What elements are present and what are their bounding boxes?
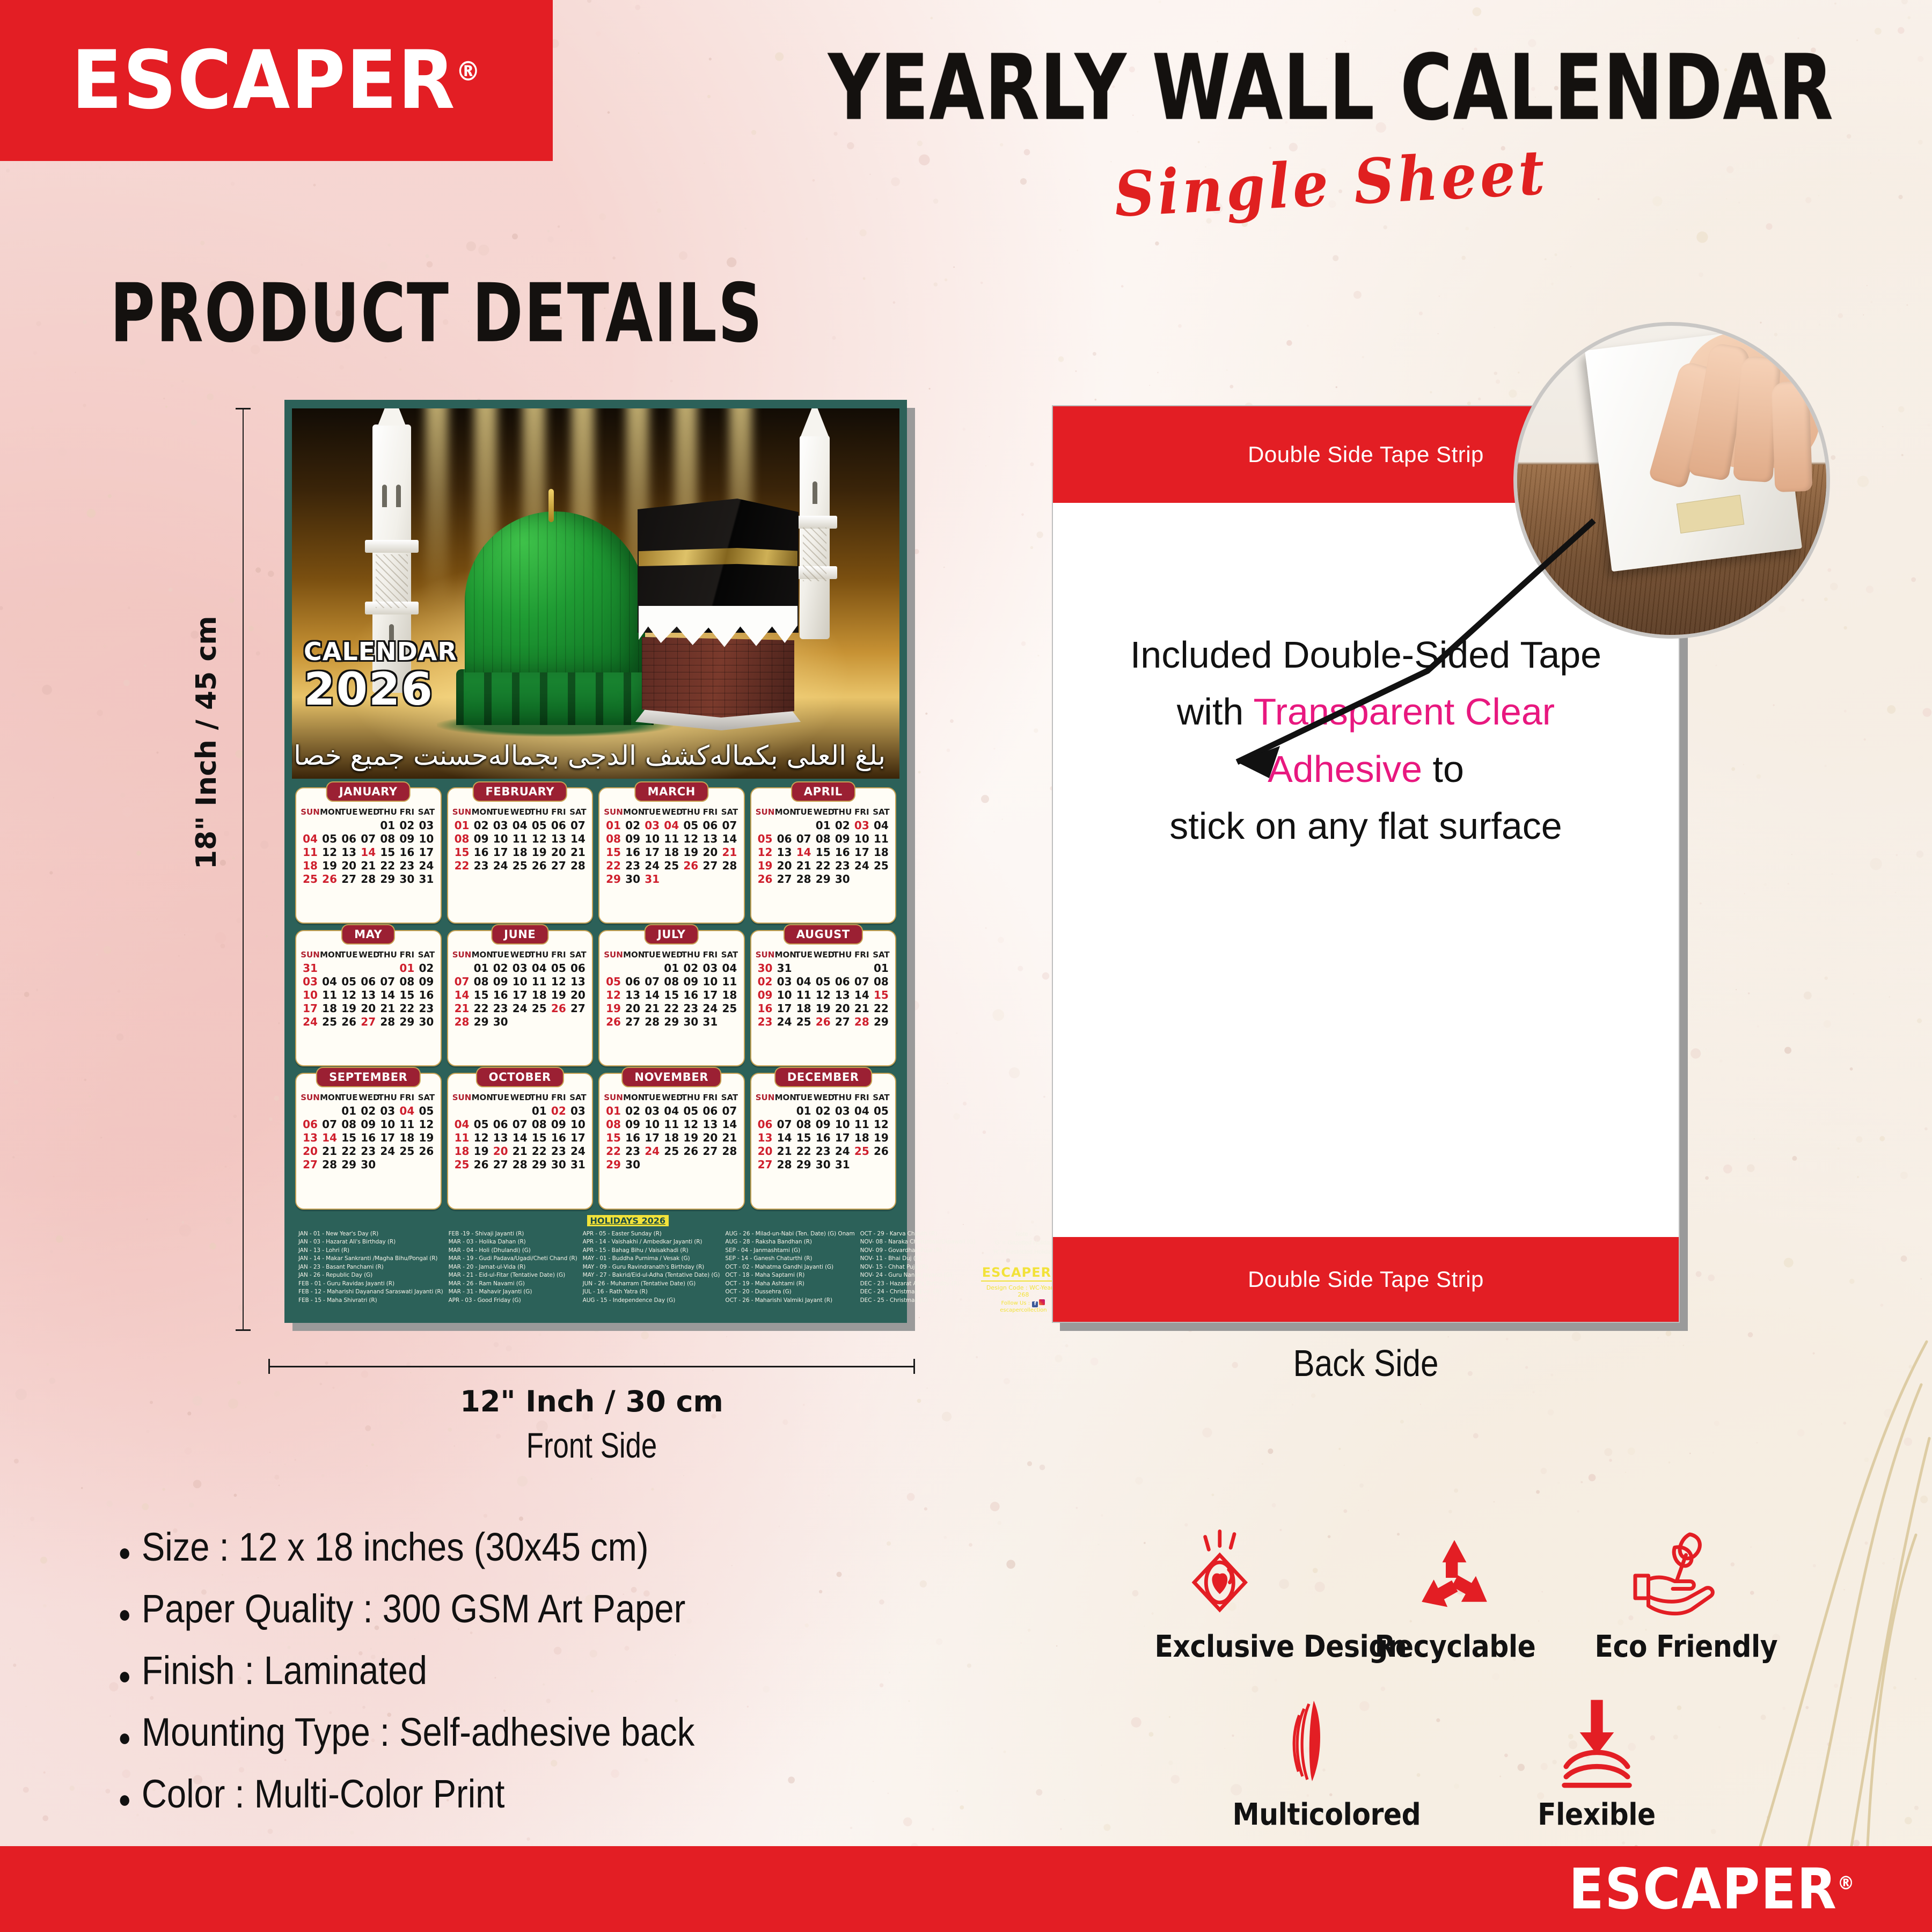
- calendar-day: 16: [416, 989, 436, 1002]
- calendar-day: 29: [530, 1158, 549, 1172]
- feature-label: Recyclable: [1375, 1629, 1534, 1664]
- holiday-entry: DEC - 24 - Christmas Eve. (R): [860, 1288, 976, 1297]
- calendar-day: 02: [397, 819, 416, 832]
- calendar-day-empty: [662, 873, 681, 886]
- calendar-day: 23: [833, 859, 852, 873]
- calendar-day: 26: [604, 1015, 623, 1029]
- month-card: JULYSUNMONTUEWEDTHUFRISAT010203040506070…: [598, 930, 745, 1066]
- month-table: SUNMONTUEWEDTHUFRISAT0102030405060708091…: [604, 1092, 740, 1172]
- calendar-day: 18: [662, 846, 681, 859]
- holiday-entry: MAR - 04 - Holi (Dhulandi) (G): [449, 1247, 577, 1255]
- calendar-day: 14: [358, 846, 378, 859]
- calendar-day: 07: [510, 1118, 530, 1131]
- weekday-header: SUN: [604, 807, 623, 819]
- calendar-day: 09: [756, 989, 775, 1002]
- front-side-caption: Front Side: [333, 1425, 851, 1466]
- calendar-day: 20: [491, 1145, 510, 1158]
- calendar-day: 05: [320, 832, 339, 846]
- month-name: FEBRUARY: [472, 781, 567, 802]
- calendar-day: 07: [378, 975, 397, 989]
- calendar-day: 24: [642, 859, 662, 873]
- calendar-day-empty: [642, 962, 662, 975]
- holiday-entry: SEP - 14 - Ganesh Chaturthi (R): [725, 1255, 854, 1263]
- registered-mark: ®: [456, 56, 481, 87]
- calendar-day: 24: [568, 1145, 588, 1158]
- weekday-header: MON: [472, 807, 491, 819]
- calendar-day: 31: [301, 962, 320, 975]
- weekday-header: SUN: [604, 1092, 623, 1104]
- calendar-day: 11: [794, 989, 814, 1002]
- calendar-day: 06: [491, 1118, 510, 1131]
- calendar-day-empty: [642, 1158, 662, 1172]
- calendar-day-empty: [339, 819, 358, 832]
- calendar-day: 13: [775, 846, 794, 859]
- holiday-entry: NOV- 08 - Naraka Chaturdasi/Dipawali (G): [860, 1238, 976, 1247]
- calendar-day: 06: [700, 1104, 720, 1118]
- month-table: SUNMONTUEWEDTHUFRISAT3101020304050607080…: [301, 949, 436, 1029]
- calendar-day: 09: [397, 832, 416, 846]
- weekday-header: SUN: [756, 949, 775, 962]
- weekday-header: WED: [814, 949, 833, 962]
- holiday-entry: MAR - 26 - Ram Navami (G): [449, 1280, 577, 1289]
- weekday-header: WED: [814, 807, 833, 819]
- calendar-day: 14: [452, 989, 472, 1002]
- calendar-day: 12: [604, 989, 623, 1002]
- calendar-day: 17: [378, 1131, 397, 1145]
- calendar-day: 19: [756, 859, 775, 873]
- weekday-header: WED: [662, 807, 681, 819]
- weekday-header: TUE: [642, 949, 662, 962]
- weekday-header: MON: [623, 1092, 642, 1104]
- calendar-day-empty: [852, 1158, 872, 1172]
- calendar-day: 28: [642, 1015, 662, 1029]
- calendar-day: 23: [756, 1015, 775, 1029]
- holiday-entry: JAN - 13 - Lohri (R): [298, 1247, 443, 1255]
- calendar-day: 29: [794, 1158, 814, 1172]
- calendar-day-empty: [510, 1104, 530, 1118]
- calendar-day: 08: [452, 832, 472, 846]
- weekday-header: SUN: [452, 807, 472, 819]
- weekday-header: FRI: [700, 807, 720, 819]
- calendar-day: 30: [681, 1015, 700, 1029]
- calendar-day: 03: [510, 962, 530, 975]
- calendar-day: 25: [320, 1015, 339, 1029]
- calendar-day: 18: [530, 989, 549, 1002]
- calendar-day: 09: [833, 832, 852, 846]
- holiday-column: AUG - 26 - Milad-un-Nabi (Ten. Date) (G)…: [725, 1230, 854, 1314]
- holidays-title: HOLIDAYS 2026: [587, 1215, 669, 1226]
- weekday-header: FRI: [852, 807, 872, 819]
- dimension-label-width: 12" Inch / 30 cm: [268, 1385, 915, 1418]
- calendar-day: 14: [510, 1131, 530, 1145]
- calendar-day: 06: [549, 819, 568, 832]
- month-card: JANUARYSUNMONTUEWEDTHUFRISAT010203040506…: [295, 787, 442, 924]
- calendar-day: 18: [794, 1002, 814, 1015]
- calendar-day: 01: [378, 819, 397, 832]
- calendar-day: 16: [472, 846, 491, 859]
- calendar-day: 26: [472, 1158, 491, 1172]
- weekday-header: WED: [662, 1092, 681, 1104]
- calendar-day: 23: [491, 1002, 510, 1015]
- calendar-day-empty: [301, 1104, 320, 1118]
- holiday-entry: JAN - 26 - Republic Day (G): [298, 1271, 443, 1280]
- calendar-day: 13: [358, 989, 378, 1002]
- calendar-day: 04: [530, 962, 549, 975]
- bullet-icon: ●: [118, 1663, 131, 1688]
- calendar-day: 26: [756, 873, 775, 886]
- calendar-day: 09: [623, 832, 642, 846]
- month-table: SUNMONTUEWEDTHUFRISAT0102030405060708091…: [756, 807, 891, 886]
- weekday-header: FRI: [549, 807, 568, 819]
- calendar-day: 12: [549, 975, 568, 989]
- calendar-day: 05: [604, 975, 623, 989]
- calendar-day: 22: [604, 1145, 623, 1158]
- calendar-day-empty: [491, 1104, 510, 1118]
- weekday-header: MON: [472, 949, 491, 962]
- dimension-line-vertical: [243, 408, 244, 1331]
- calendar-day: 22: [662, 1002, 681, 1015]
- calendar-day-empty: [358, 962, 378, 975]
- month-name: DECEMBER: [774, 1067, 872, 1087]
- calendar-day: 01: [530, 1104, 549, 1118]
- calendar-day-empty: [720, 1015, 739, 1029]
- calendar-day: 03: [491, 819, 510, 832]
- month-name: AUGUST: [784, 924, 863, 945]
- calendar-day-empty: [320, 962, 339, 975]
- calendar-day: 06: [833, 975, 852, 989]
- calendar-day: 28: [720, 859, 739, 873]
- calendar-day: 10: [700, 975, 720, 989]
- calendar-day: 24: [775, 1015, 794, 1029]
- weekday-header: WED: [510, 1092, 530, 1104]
- calendar-day: 25: [872, 859, 891, 873]
- calendar-day: 05: [756, 832, 775, 846]
- calendar-day: 14: [320, 1131, 339, 1145]
- calendar-day: 27: [339, 873, 358, 886]
- calendar-day: 10: [301, 989, 320, 1002]
- holiday-column: OCT - 29 - Karva Chauth (R)NOV- 08 - Nar…: [860, 1230, 976, 1314]
- holiday-entry: FEB - 01 - Guru Ravidas Jayanti (R): [298, 1280, 443, 1289]
- calendar-day-empty: [510, 1015, 530, 1029]
- calendar-day: 13: [568, 975, 588, 989]
- calendar-day: 14: [642, 989, 662, 1002]
- calendar-day: 15: [872, 989, 891, 1002]
- calendar-day: 19: [872, 1131, 891, 1145]
- calendar-day: 16: [623, 1131, 642, 1145]
- month-card: AUGUSTSUNMONTUEWEDTHUFRISAT3031010203040…: [750, 930, 897, 1066]
- calendar-day: 02: [416, 962, 436, 975]
- calendar-day: 18: [872, 846, 891, 859]
- weekday-header: MON: [320, 807, 339, 819]
- calendar-day: 05: [549, 962, 568, 975]
- bullet-icon: ●: [118, 1601, 131, 1626]
- calendar-day: 16: [549, 1131, 568, 1145]
- green-dome-icon: [453, 511, 657, 737]
- calendar-day: 07: [568, 819, 588, 832]
- month-name: SEPTEMBER: [316, 1067, 420, 1087]
- calendar-day-empty: [775, 1104, 794, 1118]
- calendar-day: 20: [339, 859, 358, 873]
- month-name: APRIL: [791, 781, 855, 802]
- calendar-day: 26: [530, 859, 549, 873]
- calendar-day: 16: [491, 989, 510, 1002]
- calendar-day: 11: [510, 832, 530, 846]
- weekday-header: TUE: [794, 1092, 814, 1104]
- calendar-day: 20: [756, 1145, 775, 1158]
- holiday-column: FEB -19 - Shivaji Jayanti (R)MAR - 03 - …: [449, 1230, 577, 1314]
- weekday-header: MON: [472, 1092, 491, 1104]
- calendar-day: 05: [530, 819, 549, 832]
- weekday-header: SUN: [604, 949, 623, 962]
- calendar-day: 27: [549, 859, 568, 873]
- calendar-day: 02: [623, 819, 642, 832]
- calendar-day: 22: [814, 859, 833, 873]
- calendar-day: 10: [833, 1118, 852, 1131]
- month-name: JUNE: [491, 924, 548, 945]
- calendar-day: 01: [604, 819, 623, 832]
- calendar-day: 22: [452, 859, 472, 873]
- follow-us-label: Follow Us :: [1001, 1300, 1030, 1306]
- calendar-day: 17: [833, 1131, 852, 1145]
- calendar-day: 05: [681, 1104, 700, 1118]
- calendar-day: 14: [775, 1131, 794, 1145]
- calendar-day: 25: [397, 1145, 416, 1158]
- calendar-day: 25: [452, 1158, 472, 1172]
- holiday-entry: AUG - 28 - Raksha Bandhan (R): [725, 1238, 854, 1247]
- calendar-day: 27: [700, 1145, 720, 1158]
- social-handle: escapercollection: [1000, 1307, 1046, 1313]
- calendar-day: 19: [549, 989, 568, 1002]
- weekday-header: SAT: [872, 1092, 891, 1104]
- calendar-day: 20: [833, 1002, 852, 1015]
- calendar-day: 25: [852, 1145, 872, 1158]
- calendar-day: 13: [549, 832, 568, 846]
- calendar-day: 14: [568, 832, 588, 846]
- calendar-day: 18: [397, 1131, 416, 1145]
- calendar-day: 31: [700, 1015, 720, 1029]
- holiday-entry: MAR - 21 - Eid-ul-Fitar (Tentative Date)…: [449, 1271, 577, 1280]
- holiday-entry: APR - 14 - Vaishakhi / Ambedkar Jayanti …: [583, 1238, 720, 1247]
- weekday-header: SUN: [301, 807, 320, 819]
- weekday-header: SAT: [720, 949, 739, 962]
- calendar-day: 21: [720, 846, 739, 859]
- recycle-icon: [1366, 1519, 1543, 1621]
- weekday-header: SUN: [452, 949, 472, 962]
- calendar-day-empty: [530, 1015, 549, 1029]
- spec-item: ●Color : Multi-Color Print: [118, 1771, 694, 1817]
- calendar-day: 27: [623, 1015, 642, 1029]
- calendar-day: 04: [510, 819, 530, 832]
- calendar-day: 22: [604, 859, 623, 873]
- calendar-day: 20: [700, 846, 720, 859]
- calendar-day: 29: [378, 873, 397, 886]
- facebook-icon: f: [1032, 1301, 1038, 1307]
- weekday-header: WED: [358, 807, 378, 819]
- calendar-day: 31: [642, 873, 662, 886]
- holiday-entry: OCT - 26 - Maharishi Valmiki Jayant (R): [725, 1297, 854, 1305]
- calendar-day: 09: [549, 1118, 568, 1131]
- month-card: SEPTEMBERSUNMONTUEWEDTHUFRISAT0102030405…: [295, 1073, 442, 1209]
- calendar-day: 06: [339, 832, 358, 846]
- spec-item: ●Finish : Laminated: [118, 1648, 694, 1693]
- weekday-header: FRI: [852, 949, 872, 962]
- calendar-day: 02: [833, 819, 852, 832]
- calendar-day: 18: [662, 1131, 681, 1145]
- calendar-day-empty: [681, 1158, 700, 1172]
- calendar-day: 12: [681, 1118, 700, 1131]
- calendar-day: 30: [358, 1158, 378, 1172]
- calendar-day: 13: [623, 989, 642, 1002]
- calendar-day: 30: [491, 1015, 510, 1029]
- calendar-day: 29: [872, 1015, 891, 1029]
- calendar-day: 01: [872, 962, 891, 975]
- calendar-day: 05: [416, 1104, 436, 1118]
- weekday-header: THU: [530, 807, 549, 819]
- arabic-phrase: حسنت جميع خصاله: [292, 740, 488, 771]
- holiday-entry: NOV- 09 - Govardhan Puja (R): [860, 1247, 976, 1255]
- month-table: SUNMONTUEWEDTHUFRISAT0102030405060708091…: [452, 949, 588, 1029]
- holiday-column: JAN - 01 - New Year's Day (R)JAN - 03 - …: [298, 1230, 443, 1314]
- calendar-day: 31: [568, 1158, 588, 1172]
- weekday-header: MON: [775, 1092, 794, 1104]
- calendar-day: 14: [378, 989, 397, 1002]
- calendar-day: 06: [568, 962, 588, 975]
- weekday-header: TUE: [491, 1092, 510, 1104]
- calendar-day: 27: [756, 1158, 775, 1172]
- feature-multicolored: Multicolored: [1224, 1687, 1401, 1832]
- calendar-day: 01: [794, 1104, 814, 1118]
- holiday-entry: JAN - 01 - New Year's Day (R): [298, 1230, 443, 1239]
- feature-label: Exclusive Design: [1155, 1629, 1314, 1664]
- calendar-day: 10: [416, 832, 436, 846]
- calendar-day: 29: [604, 1158, 623, 1172]
- calendar-day: 13: [756, 1131, 775, 1145]
- calendar-day: 26: [416, 1145, 436, 1158]
- month-table: SUNMONTUEWEDTHUFRISAT3031010203040506070…: [756, 949, 891, 1029]
- registered-mark: ®: [1837, 1872, 1855, 1894]
- calendar-day: 13: [833, 989, 852, 1002]
- weekday-header: SAT: [568, 1092, 588, 1104]
- calendar-day-empty: [358, 819, 378, 832]
- calendar-day: 19: [681, 846, 700, 859]
- calendar-day: 28: [378, 1015, 397, 1029]
- calendar-day: 21: [775, 1145, 794, 1158]
- calendar-day: 11: [720, 975, 739, 989]
- calendar-day: 24: [301, 1015, 320, 1029]
- calendar-day: 06: [700, 819, 720, 832]
- weekday-header: TUE: [794, 949, 814, 962]
- dimension-label-height: 18" Inch / 45 cm: [191, 616, 223, 869]
- calendar-day: 12: [756, 846, 775, 859]
- calendar-day: 05: [814, 975, 833, 989]
- calendar-day: 15: [472, 989, 491, 1002]
- calendar-day: 24: [416, 859, 436, 873]
- calendar-day: 06: [358, 975, 378, 989]
- calendar-day-empty: [720, 873, 739, 886]
- calendar-day: 22: [794, 1145, 814, 1158]
- calendar-day: 10: [568, 1118, 588, 1131]
- instagram-icon: [1039, 1299, 1045, 1305]
- arabic-calligraphy-line: بلغ العلى بكماله كشف الدجى بجماله حسنت ج…: [292, 740, 899, 771]
- calendar-day: 27: [700, 859, 720, 873]
- calendar-day: 03: [416, 819, 436, 832]
- month-table: SUNMONTUEWEDTHUFRISAT0102030405060708091…: [452, 807, 588, 873]
- holiday-entry: MAR - 31 - Mahavir Jayanti (G): [449, 1288, 577, 1297]
- weekday-header: THU: [378, 1092, 397, 1104]
- weekday-header: THU: [681, 807, 700, 819]
- color-pages-icon: [1224, 1687, 1401, 1789]
- calendar-day: 30: [416, 1015, 436, 1029]
- calendar-day: 15: [662, 989, 681, 1002]
- calendar-day: 26: [339, 1015, 358, 1029]
- calendar-day: 17: [642, 1131, 662, 1145]
- eye-heart-icon: [1146, 1519, 1323, 1621]
- calendar-day-empty: [452, 962, 472, 975]
- month-table: SUNMONTUEWEDTHUFRISAT0102030405060708091…: [756, 1092, 891, 1172]
- back-side-caption: Back Side: [1096, 1342, 1636, 1385]
- weekday-header: SAT: [872, 949, 891, 962]
- holiday-entry: JUN - 26 - Muharram (Tentative Date) (G): [583, 1280, 720, 1289]
- calendar-day: 02: [358, 1104, 378, 1118]
- spec-item: ●Paper Quality : 300 GSM Art Paper: [118, 1586, 694, 1631]
- month-name: OCTOBER: [476, 1067, 564, 1087]
- weekday-header: THU: [833, 1092, 852, 1104]
- calendar-day: 11: [872, 832, 891, 846]
- calendar-day: 14: [852, 989, 872, 1002]
- calendar-day: 12: [472, 1131, 491, 1145]
- calendar-day: 06: [756, 1118, 775, 1131]
- calendar-day: 20: [568, 989, 588, 1002]
- calendar-day: 09: [623, 1118, 642, 1131]
- calendar-day: 07: [852, 975, 872, 989]
- calendar-day: 16: [623, 846, 642, 859]
- month-card: APRILSUNMONTUEWEDTHUFRISAT01020304050607…: [750, 787, 897, 924]
- weekday-header: FRI: [549, 949, 568, 962]
- calendar-day: 11: [852, 1118, 872, 1131]
- weekday-header: SUN: [301, 1092, 320, 1104]
- calendar-day: 21: [720, 1131, 739, 1145]
- calendar-poster-front: CALENDAR 2026 بلغ العلى بكماله كشف الدجى…: [284, 400, 907, 1323]
- weekday-header: WED: [814, 1092, 833, 1104]
- calendar-day: 12: [872, 1118, 891, 1131]
- month-table: SUNMONTUEWEDTHUFRISAT0102030405060708091…: [604, 807, 740, 886]
- month-name: NOVEMBER: [621, 1067, 721, 1087]
- month-card: NOVEMBERSUNMONTUEWEDTHUFRISAT01020304050…: [598, 1073, 745, 1209]
- weekday-header: SAT: [568, 807, 588, 819]
- weekday-header: THU: [833, 949, 852, 962]
- weekday-header: FRI: [549, 1092, 568, 1104]
- calendar-day: 17: [568, 1131, 588, 1145]
- calendar-day-empty: [720, 1158, 739, 1172]
- calendar-day: 15: [604, 846, 623, 859]
- calendar-day: 11: [301, 846, 320, 859]
- calendar-day: 08: [604, 832, 623, 846]
- calendar-day: 05: [339, 975, 358, 989]
- weekday-header: THU: [378, 807, 397, 819]
- holiday-entry: MAY - 01 - Buddha Purnima / Vesak (G): [583, 1255, 720, 1263]
- calendar-day: 25: [510, 859, 530, 873]
- calendar-day: 16: [814, 1131, 833, 1145]
- holiday-entry: APR - 05 - Easter Sunday (R): [583, 1230, 720, 1239]
- bullet-icon: ●: [118, 1787, 131, 1811]
- calendar-day: 21: [378, 1002, 397, 1015]
- calendar-day: 07: [358, 832, 378, 846]
- calendar-day: 28: [794, 873, 814, 886]
- calendar-day: 10: [642, 1118, 662, 1131]
- calendar-day: 29: [339, 1158, 358, 1172]
- holiday-entry: APR - 15 - Bahag Bihu / Vaisakhadi (R): [583, 1247, 720, 1255]
- calendar-day: 08: [604, 1118, 623, 1131]
